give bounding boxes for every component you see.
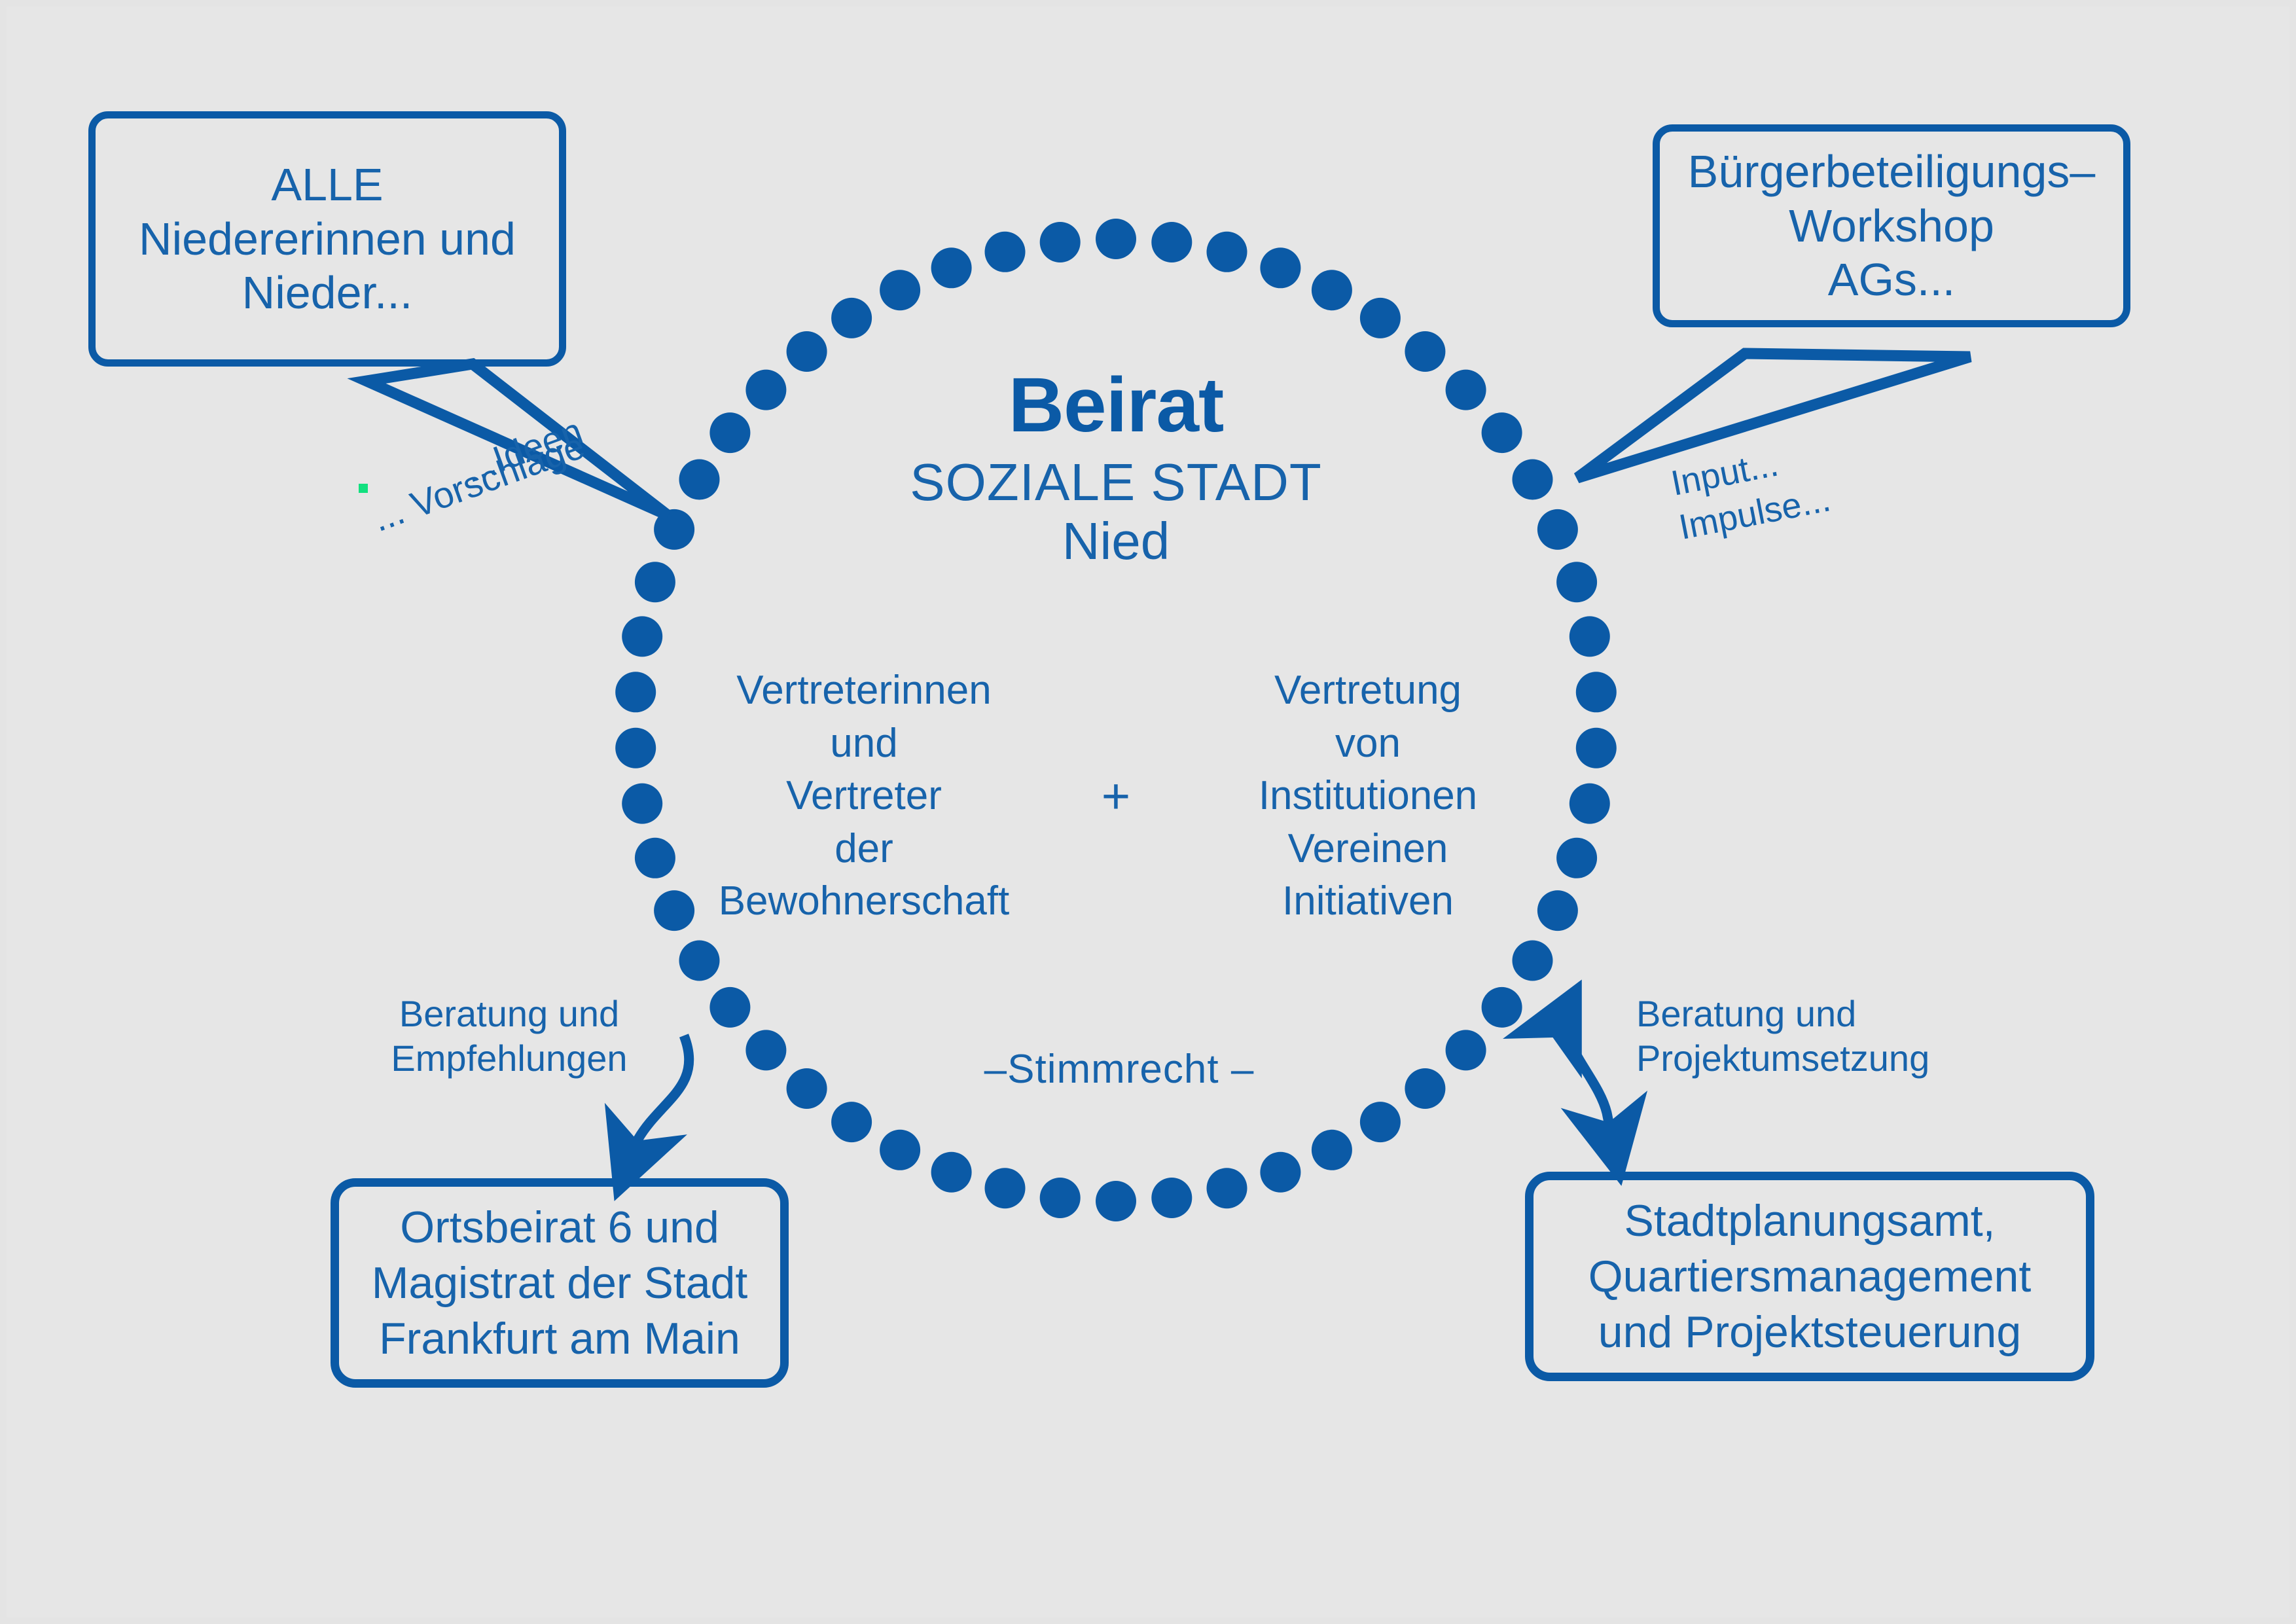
ring-dot xyxy=(1312,270,1352,310)
subtitle-nied: Nied xyxy=(772,512,1460,571)
ring-dot xyxy=(1570,616,1610,657)
bubble-left-line2: Niedererinnen und xyxy=(139,212,516,266)
residents-line-1: Vertreterinnen xyxy=(694,664,1034,717)
ortsbeirat-line2: Magistrat der Stadt xyxy=(372,1255,747,1311)
ring-dot xyxy=(1096,1181,1136,1221)
ring-dot xyxy=(709,412,750,453)
ring-dot xyxy=(654,890,694,931)
ring-dot xyxy=(1537,509,1578,550)
bubble-left-line3: Nieder... xyxy=(139,266,516,320)
diagram-canvas: ALLE Niedererinnen und Nieder... Bürgerb… xyxy=(0,0,2296,1624)
ring-dot xyxy=(622,616,662,657)
institutions-line-3: Institutionen xyxy=(1198,770,1538,823)
plus-operator: + xyxy=(1086,768,1145,825)
ring-dot xyxy=(679,941,720,981)
residents-line-3: Vertreter xyxy=(694,770,1034,823)
ring-dot xyxy=(1040,222,1081,262)
members-column-institutions: Vertretung von Institutionen Vereinen In… xyxy=(1198,664,1538,928)
ring-dot xyxy=(1151,1178,1192,1218)
beratung-links-line1: Beratung und xyxy=(378,992,640,1036)
ring-dot xyxy=(1537,890,1578,931)
institutions-line-5: Initiativen xyxy=(1198,875,1538,928)
ring-dot xyxy=(831,298,872,338)
beratung-rechts-line2: Projektumsetzung xyxy=(1636,1036,1977,1081)
ortsbeirat-line3: Frankfurt am Main xyxy=(372,1311,747,1367)
ring-dot xyxy=(880,270,920,310)
beratung-rechts-line1: Beratung und xyxy=(1636,992,1977,1036)
institutions-line-1: Vertretung xyxy=(1198,664,1538,717)
ring-dot xyxy=(1482,412,1522,453)
box-stadtplanungsamt[interactable]: Stadtplanungsamt, Quartiersmanagement un… xyxy=(1525,1172,2094,1381)
ring-dot xyxy=(1556,838,1597,878)
residents-line-2: und xyxy=(694,717,1034,770)
stadtplanung-line2: Quartiersmanagement xyxy=(1588,1249,2032,1305)
institutions-line-2: von xyxy=(1198,717,1538,770)
residents-line-4: der xyxy=(694,823,1034,876)
speech-bubble-workshop[interactable]: Bürgerbeteiligungs– Workshop AGs... xyxy=(1653,124,2130,327)
ring-dot xyxy=(1360,1102,1401,1142)
ring-dot xyxy=(1207,1168,1247,1208)
ortsbeirat-line1: Ortsbeirat 6 und xyxy=(372,1200,747,1255)
ring-dot xyxy=(831,1102,872,1142)
ring-dot xyxy=(1513,460,1553,500)
residents-line-5: Bewohnerschaft xyxy=(694,875,1034,928)
bubble-right-line2: Workshop xyxy=(1688,199,2096,253)
members-column-residents: Vertreterinnen und Vertreter der Bewohne… xyxy=(694,664,1034,928)
ring-dot xyxy=(1312,1130,1352,1170)
ring-dot xyxy=(1040,1178,1081,1218)
voting-rights-note: –Stimmrecht – xyxy=(772,1046,1466,1092)
ring-dot xyxy=(1570,784,1610,824)
stadtplanung-line1: Stadtplanungsamt, xyxy=(1588,1193,2032,1249)
ring-dot xyxy=(679,460,720,500)
ring-dot xyxy=(985,232,1026,272)
beratung-links-line2: Empfehlungen xyxy=(378,1036,640,1081)
ring-dot xyxy=(1207,232,1247,272)
ring-dot xyxy=(1556,562,1597,602)
ring-dot xyxy=(1576,672,1617,712)
ring-dot xyxy=(615,672,656,712)
ring-dot xyxy=(1482,987,1522,1028)
ring-dot xyxy=(880,1130,920,1170)
speech-bubble-residents[interactable]: ALLE Niedererinnen und Nieder... xyxy=(88,111,566,367)
ring-dot xyxy=(1260,1152,1300,1193)
ring-dot xyxy=(1096,219,1136,259)
ring-dot xyxy=(1260,247,1300,288)
ring-dot xyxy=(931,247,972,288)
ring-dot xyxy=(1151,222,1192,262)
circle-members-columns: Vertreterinnen und Vertreter der Bewohne… xyxy=(694,664,1538,928)
page-title: Beirat xyxy=(772,367,1460,444)
ring-dot xyxy=(622,784,662,824)
stadtplanung-line3: und Projektsteuerung xyxy=(1588,1305,2032,1360)
box-ortsbeirat-magistrat[interactable]: Ortsbeirat 6 und Magistrat der Stadt Fra… xyxy=(331,1178,789,1388)
bubble-right-line3: AGs... xyxy=(1688,253,2096,307)
label-beratung-empfehlungen: Beratung und Empfehlungen xyxy=(378,992,640,1081)
circle-heading-group: Beirat SOZIALE STADT Nied xyxy=(772,367,1460,570)
ring-dot xyxy=(635,562,675,602)
institutions-line-4: Vereinen xyxy=(1198,823,1538,876)
ring-dot xyxy=(615,728,656,768)
bubble-left-line1: ALLE xyxy=(139,158,516,212)
ring-dot xyxy=(1576,728,1617,768)
ring-dot xyxy=(931,1152,972,1193)
green-dot-marker xyxy=(359,484,368,493)
ring-dot xyxy=(787,331,827,372)
ring-dot xyxy=(985,1168,1026,1208)
label-beratung-projektumsetzung: Beratung und Projektumsetzung xyxy=(1636,992,1977,1081)
ring-dot xyxy=(1360,298,1401,338)
subtitle-soziale-stadt: SOZIALE STADT xyxy=(772,453,1460,512)
bubble-right-line1: Bürgerbeteiligungs– xyxy=(1688,145,2096,199)
ring-dot xyxy=(635,838,675,878)
ring-dot xyxy=(1405,331,1445,372)
ring-dot xyxy=(709,987,750,1028)
ring-dot xyxy=(1513,941,1553,981)
arrow-beratung-projektumsetzung xyxy=(1566,1001,1617,1162)
